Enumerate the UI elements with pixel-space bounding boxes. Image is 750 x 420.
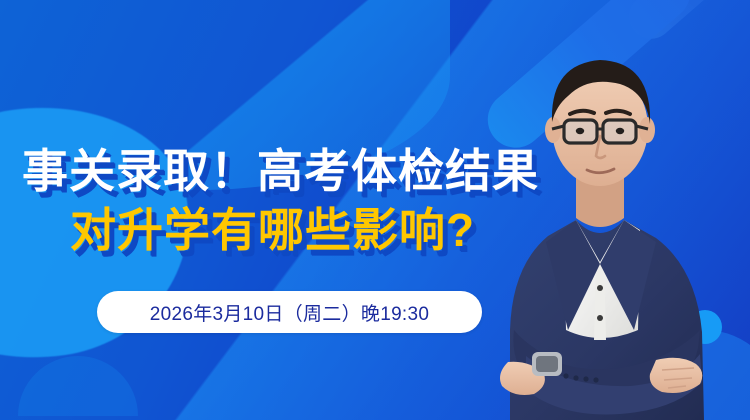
schedule-text: 2026年3月10日（周二）晚19:30: [150, 299, 430, 326]
presenter-portrait: [470, 30, 750, 420]
schedule-pill: 2026年3月10日（周二）晚19:30: [97, 291, 482, 333]
promo-poster: 事关录取！高考体检结果 对升学有哪些影响? 2026年3月10日（周二）晚19:…: [0, 0, 750, 420]
